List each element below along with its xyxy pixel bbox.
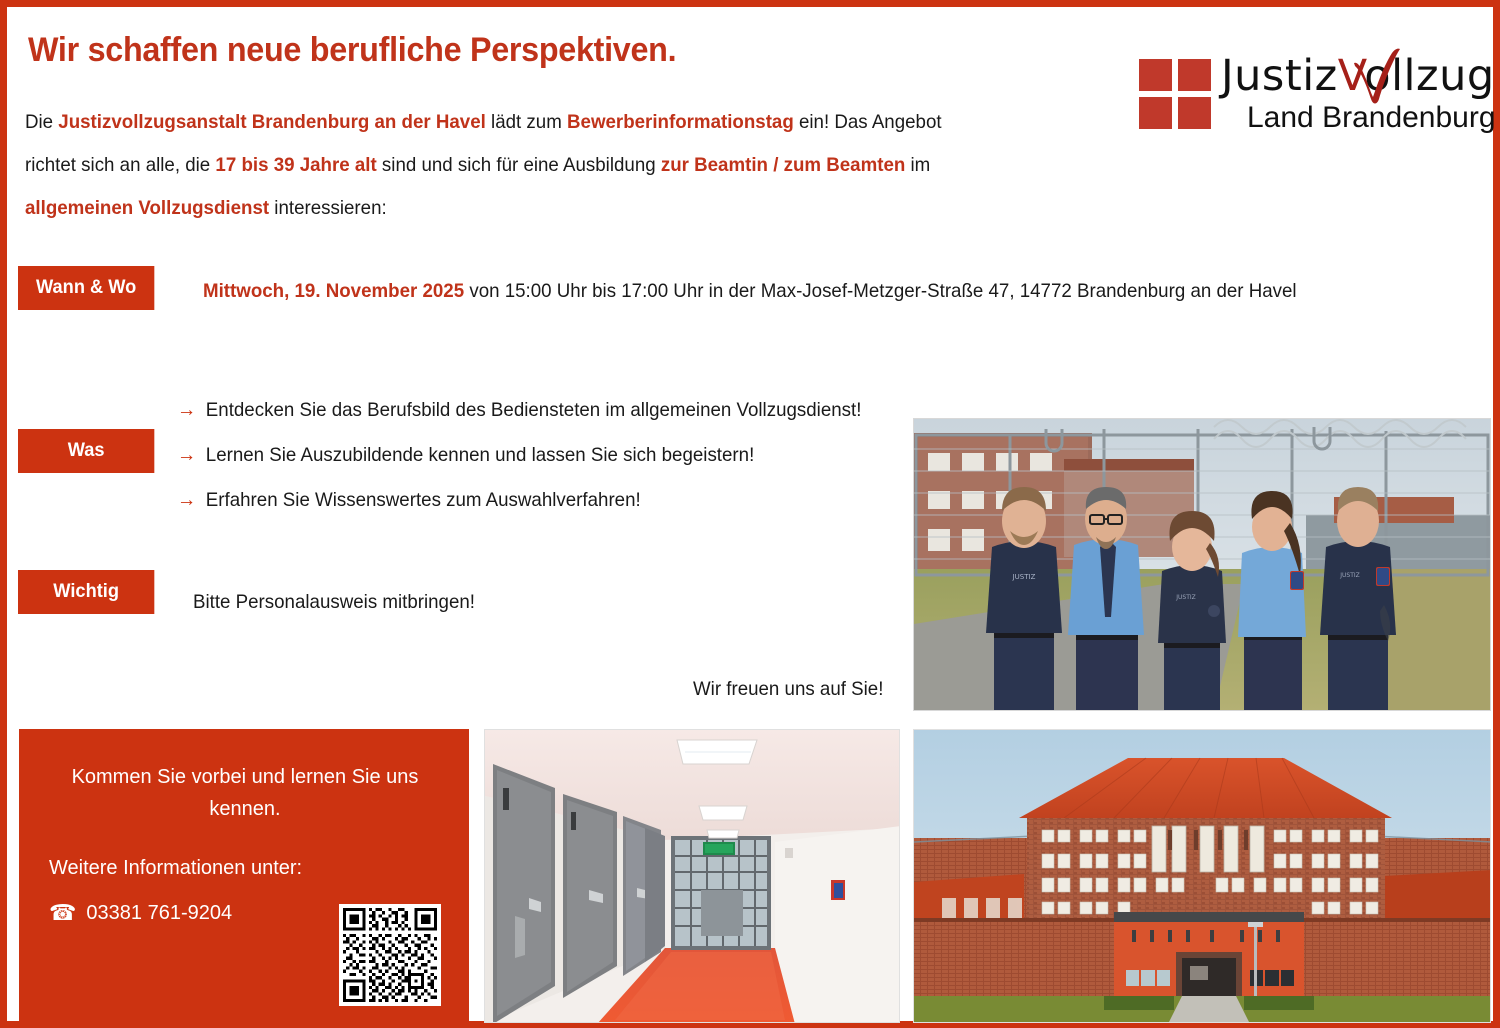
svg-text:JUSTIZ: JUSTIZ: [1339, 572, 1360, 579]
poster-root: Wir schaffen neue berufliche Perspektive…: [0, 0, 1500, 1028]
qr-code[interactable]: [339, 904, 441, 1006]
badge-was-label: Was: [68, 440, 105, 462]
was-bullet-list: → Entdecken Sie das Berufsbild des Bedie…: [177, 397, 917, 532]
svg-text:JUSTIZ: JUSTIZ: [1175, 594, 1196, 601]
intro-part-4: sind und sich für eine Ausbildung: [377, 154, 661, 176]
event-details: von 15:00 Uhr bis 17:00 Uhr in der Max-J…: [464, 280, 1296, 302]
intro-emphasis-age: 17 bis 39 Jahre alt: [215, 154, 376, 176]
badge-wichtig-label: Wichtig: [53, 581, 119, 603]
badge-wann-wo-label: Wann & Wo: [36, 277, 136, 299]
cta-phone[interactable]: ☎ 03381 761-9204: [49, 900, 232, 926]
intro-part-1: Die: [25, 111, 58, 133]
list-item: → Entdecken Sie das Berufsbild des Bedie…: [177, 397, 887, 423]
list-item-label: Erfahren Sie Wissenswertes zum Auswahlve…: [206, 487, 641, 513]
intro-emphasis-event: Bewerberinformationstag: [567, 111, 794, 133]
badge-wichtig: Wichtig: [18, 570, 154, 614]
list-item: → Erfahren Sie Wissenswertes zum Auswahl…: [177, 487, 887, 513]
list-item: → Lernen Sie Auszubildende kennen und la…: [177, 442, 887, 468]
cta-info-label: Weitere Informationen unter:: [49, 857, 302, 880]
list-item-label: Lernen Sie Auszubildende kennen und lass…: [206, 442, 754, 468]
intro-part-2: lädt zum: [486, 111, 567, 133]
telephone-icon: ☎: [49, 900, 76, 926]
svg-text:JUSTIZ: JUSTIZ: [1012, 573, 1036, 581]
logo-word-justiz: Justiz: [1221, 51, 1338, 101]
event-date: Mittwoch, 19. November 2025: [203, 280, 464, 302]
photo-building: [913, 729, 1491, 1023]
photo-building-illustration: [914, 730, 1491, 1023]
cta-headline: Kommen Sie vorbei und lernen Sie uns ken…: [49, 761, 441, 825]
photo-officers: JUSTIZ: [913, 418, 1491, 711]
wann-wo-text: Mittwoch, 19. November 2025 von 15:00 Uh…: [203, 269, 1355, 313]
arrow-right-icon: →: [177, 397, 196, 423]
intro-part-5: im: [905, 154, 930, 176]
closing-text: Wir freuen uns auf Sie!: [693, 678, 883, 701]
list-item-label: Entdecken Sie das Berufsbild des Bediens…: [206, 397, 862, 423]
wichtig-text: Bitte Personalausweis mitbringen!: [193, 580, 475, 624]
page-title: Wir schaffen neue berufliche Perspektive…: [28, 31, 676, 70]
justizvollzug-logo: JustizVollzug Land Brandenburg: [1139, 49, 1469, 137]
badge-wann-wo: Wann & Wo: [18, 266, 154, 310]
intro-emphasis-institution: Justizvollzugsanstalt Brandenburg an der…: [58, 111, 486, 133]
qr-code-icon: [343, 908, 437, 1002]
intro-paragraph: Die Justizvollzugsanstalt Brandenburg an…: [25, 101, 995, 230]
logo-subtitle: Land Brandenburg: [1247, 101, 1496, 135]
badge-was: Was: [18, 429, 154, 473]
arrow-right-icon: →: [177, 487, 196, 513]
intro-part-6: interessieren:: [269, 197, 387, 219]
cta-phone-number: 03381 761-9204: [86, 902, 232, 925]
intro-emphasis-role: zur Beamtin / zum Beamten: [661, 154, 905, 176]
logo-checkmark-icon: [1352, 47, 1404, 107]
photo-officers-illustration: JUSTIZ: [914, 419, 1491, 711]
arrow-right-icon: →: [177, 442, 196, 468]
photo-corridor: [484, 729, 900, 1023]
logo-squares-icon: [1139, 59, 1211, 129]
photo-corridor-illustration: [485, 730, 900, 1023]
intro-emphasis-service: allgemeinen Vollzugsdienst: [25, 197, 269, 219]
